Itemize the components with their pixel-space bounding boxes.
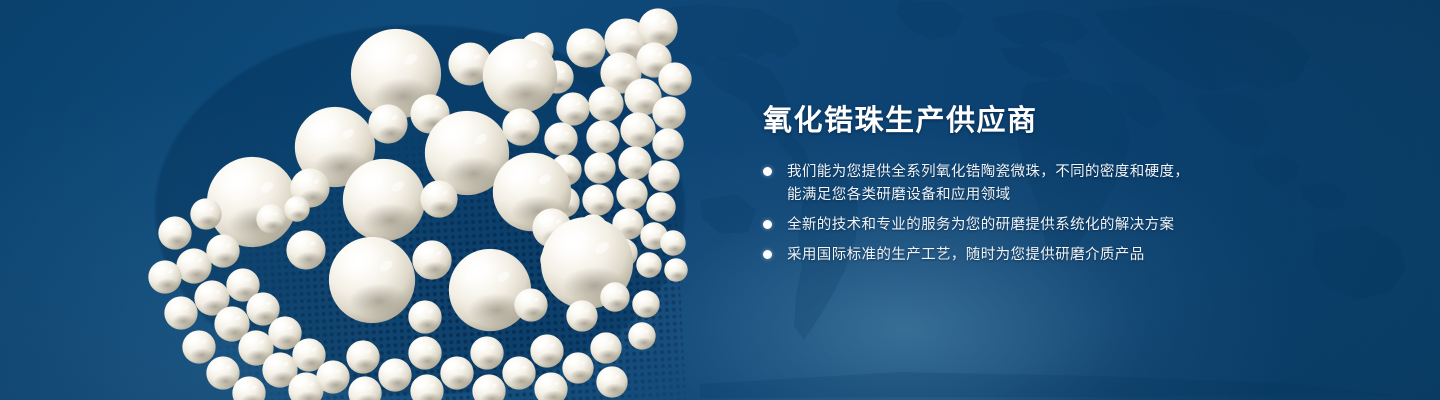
- list-item-text: 我们能为您提供全系列氧化锆陶瓷微珠，不同的密度和硬度， 能满足您各类研磨设备和应…: [787, 161, 1189, 207]
- list-item: 全新的技术和专业的服务为您的研磨提供系统化的解决方案: [763, 214, 1383, 237]
- list-item: 采用国际标准的生产工艺，随时为您提供研磨介质产品: [763, 244, 1383, 267]
- bullet-dot-icon: [763, 250, 772, 259]
- hero-banner: 氧化锆珠生产供应商 我们能为您提供全系列氧化锆陶瓷微珠，不同的密度和硬度， 能满…: [0, 0, 1440, 400]
- bullet-dot-icon: [763, 220, 772, 229]
- list-item-text: 采用国际标准的生产工艺，随时为您提供研磨介质产品: [787, 244, 1145, 267]
- list-item-line2: 能满足您各类研磨设备和应用领域: [787, 184, 1189, 207]
- list-item: 我们能为您提供全系列氧化锆陶瓷微珠，不同的密度和硬度， 能满足您各类研磨设备和应…: [763, 161, 1383, 207]
- list-item-line1: 全新的技术和专业的服务为您的研磨提供系统化的解决方案: [787, 217, 1174, 233]
- page-title: 氧化锆珠生产供应商: [763, 104, 1383, 139]
- list-item-line1: 我们能为您提供全系列氧化锆陶瓷微珠，不同的密度和硬度，: [787, 164, 1189, 180]
- list-item-text: 全新的技术和专业的服务为您的研磨提供系统化的解决方案: [787, 214, 1174, 237]
- list-item-line1: 采用国际标准的生产工艺，随时为您提供研磨介质产品: [787, 247, 1145, 263]
- feature-list: 我们能为您提供全系列氧化锆陶瓷微珠，不同的密度和硬度， 能满足您各类研磨设备和应…: [763, 161, 1383, 267]
- bullet-dot-icon: [763, 167, 772, 176]
- banner-copy: 氧化锆珠生产供应商 我们能为您提供全系列氧化锆陶瓷微珠，不同的密度和硬度， 能满…: [763, 104, 1383, 274]
